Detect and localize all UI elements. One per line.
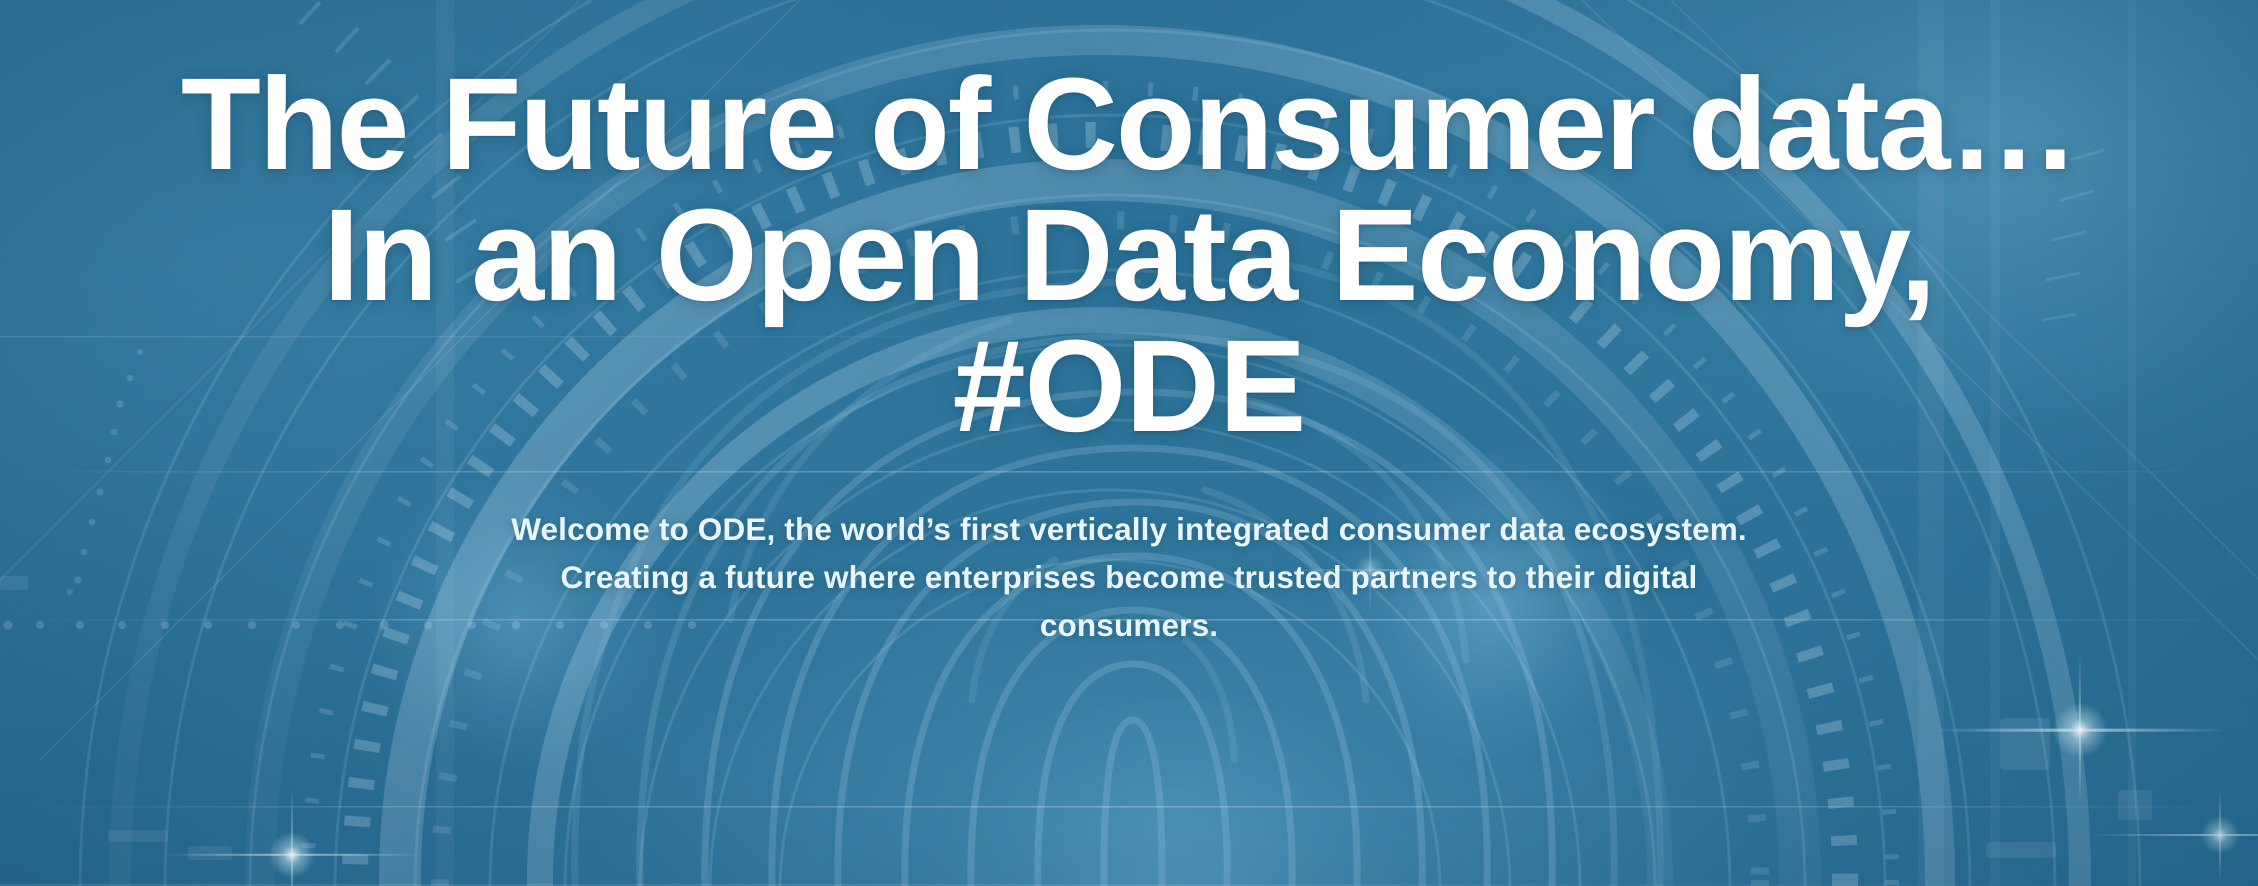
headline-line-2: In an Open Data Economy, xyxy=(16,189,2242,320)
headline-line-3: #ODE xyxy=(16,320,2242,451)
hero-content: The Future of Consumer data… In an Open … xyxy=(0,0,2258,886)
hero-banner: The Future of Consumer data… In an Open … xyxy=(0,0,2258,886)
subtitle-line-1: Welcome to ODE, the world’s first vertic… xyxy=(249,506,2009,554)
page-title: The Future of Consumer data… In an Open … xyxy=(0,58,2258,451)
hero-subtitle: Welcome to ODE, the world’s first vertic… xyxy=(249,506,2009,650)
headline-line-1: The Future of Consumer data… xyxy=(16,58,2242,189)
subtitle-line-3: consumers. xyxy=(249,602,2009,650)
subtitle-line-2: Creating a future where enterprises beco… xyxy=(249,554,2009,602)
